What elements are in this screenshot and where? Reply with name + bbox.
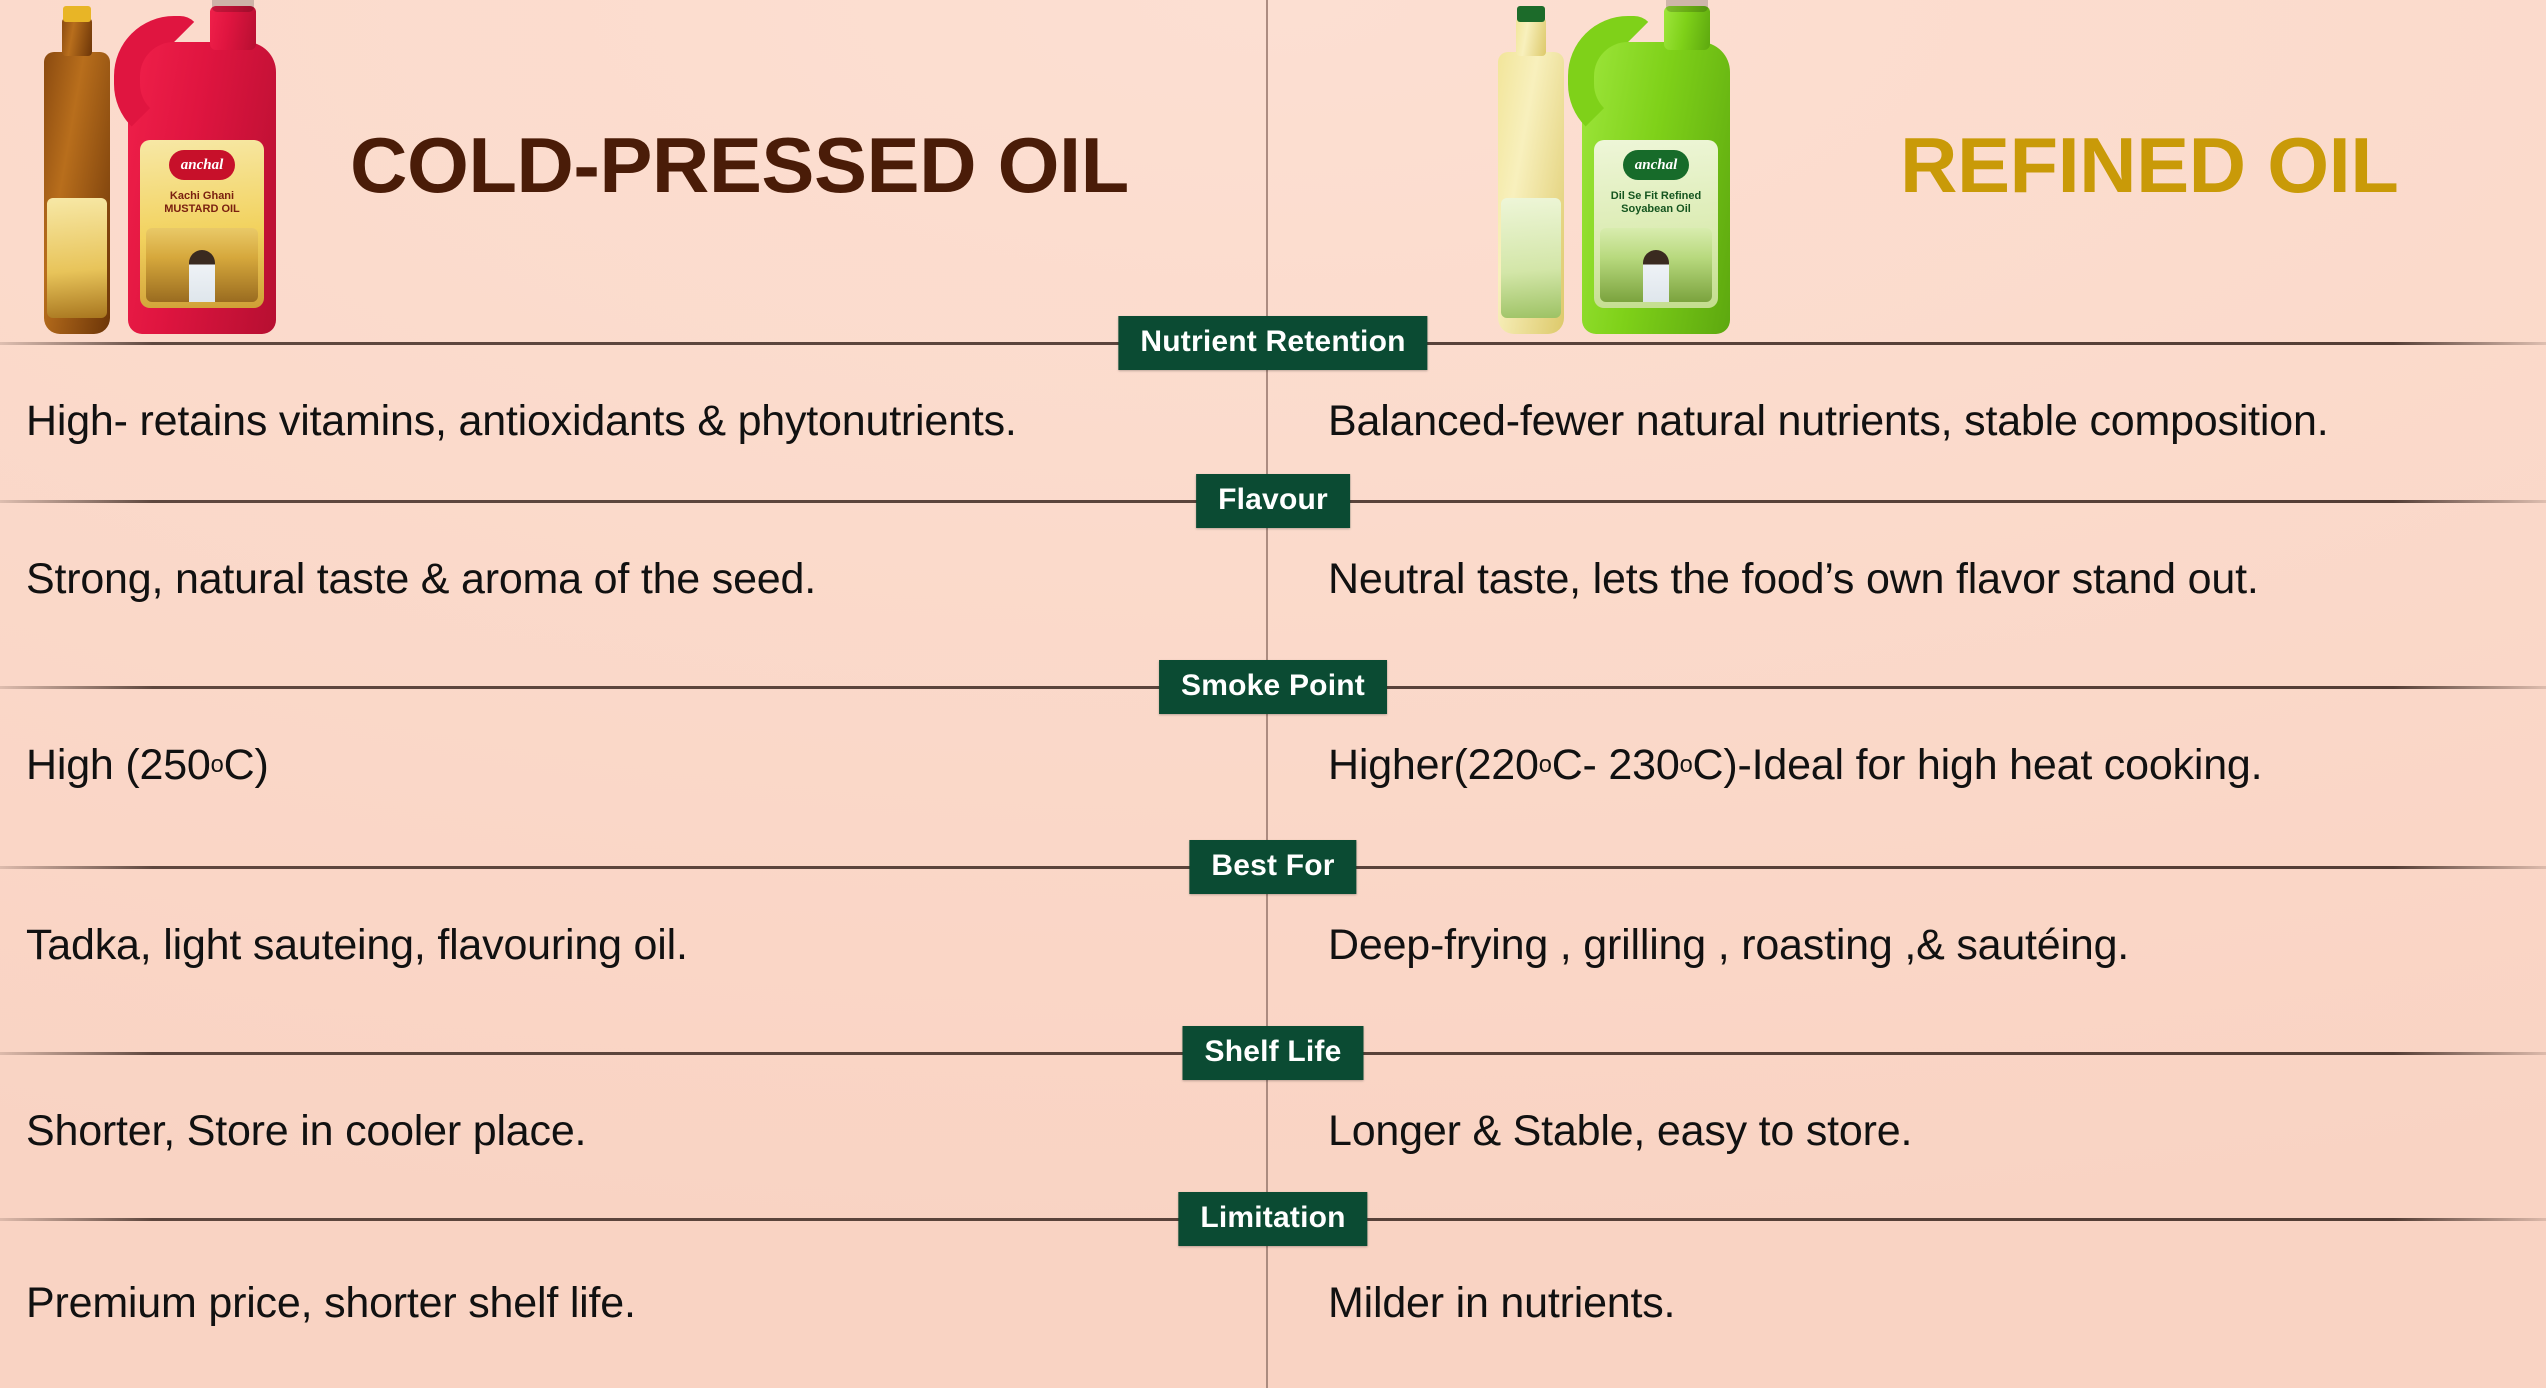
row-value-cold-pressed: Strong, natural taste & aroma of the see…	[0, 500, 1266, 658]
row-value-refined: Deep-frying , grilling , roasting ,& sau…	[1280, 866, 2546, 1024]
comparison-infographic: COLD-PRESSED OIL REFINED OIL anchal Kach…	[0, 0, 2546, 1388]
header-right: REFINED OIL	[1280, 0, 2546, 330]
row-value-refined: Milder in nutrients.	[1280, 1218, 2546, 1388]
header-band: COLD-PRESSED OIL REFINED OIL anchal Kach…	[0, 0, 2546, 330]
jerrycan-label: anchal Dil Se Fit Refined Soyabean Oil	[1594, 140, 1718, 308]
jerrycan-handle	[1568, 16, 1654, 144]
row-label-badge: Shelf Life	[1182, 1026, 1363, 1080]
jerrycan-label: anchal Kachi Ghani MUSTARD OIL	[140, 140, 264, 308]
comparison-row: Shelf Life Shorter, Store in cooler plac…	[0, 1052, 2546, 1210]
row-label-badge: Nutrient Retention	[1118, 316, 1427, 370]
variant-text-left: Kachi Ghani MUSTARD OIL	[156, 190, 248, 215]
comparison-row: Best For Tadka, light sauteing, flavouri…	[0, 866, 2546, 1024]
product-image-refined: anchal Dil Se Fit Refined Soyabean Oil	[1490, 14, 1750, 334]
pet-bottle-label	[47, 198, 107, 318]
refined-oil-pet-bottle-icon	[1498, 52, 1564, 334]
page-title-cold-pressed: COLD-PRESSED OIL	[350, 120, 1129, 211]
page-title-refined: REFINED OIL	[1900, 120, 2398, 211]
pet-bottle-label	[1501, 198, 1561, 318]
row-label-badge: Smoke Point	[1159, 660, 1387, 714]
label-photo-right	[1600, 228, 1712, 302]
row-label-badge: Flavour	[1196, 474, 1350, 528]
mustard-oil-pet-bottle-icon	[44, 52, 110, 334]
row-value-cold-pressed: Tadka, light sauteing, flavouring oil.	[0, 866, 1266, 1024]
row-value-refined: Neutral taste, lets the food’s own flavo…	[1280, 500, 2546, 658]
row-label-badge: Limitation	[1178, 1192, 1367, 1246]
row-value-refined: Balanced-fewer natural nutrients, stable…	[1280, 342, 2546, 500]
row-value-cold-pressed: High (250oC)	[0, 686, 1266, 844]
mustard-oil-jerrycan-icon: anchal Kachi Ghani MUSTARD OIL	[128, 42, 276, 334]
row-value-refined: Longer & Stable, easy to store.	[1280, 1052, 2546, 1210]
comparison-row: Smoke Point High (250oC) Higher(220oC- 2…	[0, 686, 2546, 844]
comparison-row: Flavour Strong, natural taste & aroma of…	[0, 500, 2546, 658]
refined-oil-jerrycan-icon: anchal Dil Se Fit Refined Soyabean Oil	[1582, 42, 1730, 334]
variant-text-right: Dil Se Fit Refined Soyabean Oil	[1610, 190, 1702, 215]
row-value-cold-pressed: Premium price, shorter shelf life.	[0, 1218, 1266, 1388]
comparison-row: Limitation Premium price, shorter shelf …	[0, 1218, 2546, 1388]
row-label-badge: Best For	[1189, 840, 1356, 894]
label-photo-left	[146, 228, 258, 302]
brand-logo-right: anchal	[1623, 150, 1689, 180]
row-value-cold-pressed: High- retains vitamins, antioxidants & p…	[0, 342, 1266, 500]
row-value-cold-pressed: Shorter, Store in cooler place.	[0, 1052, 1266, 1210]
brand-logo-left: anchal	[169, 150, 235, 180]
product-image-cold-pressed: anchal Kachi Ghani MUSTARD OIL	[36, 14, 296, 334]
jerrycan-handle	[114, 16, 200, 144]
row-value-refined: Higher(220oC- 230oC)-Ideal for high heat…	[1280, 686, 2546, 844]
